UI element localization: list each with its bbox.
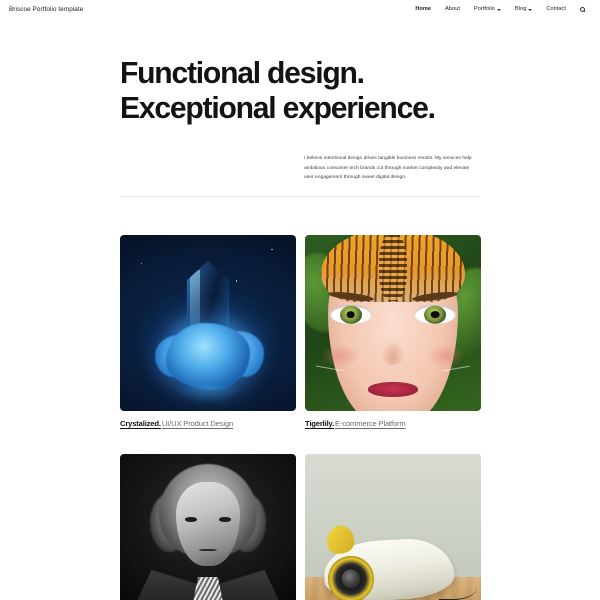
nav-item-label: Portfolio [474,6,495,12]
nav-item-label: Home [415,6,431,12]
search-icon [580,7,585,12]
headline-line-1: Functional design. [120,55,364,90]
project-subtitle: E-commerce Platform [335,419,406,428]
nav-item-contact[interactable]: Contact [539,6,573,12]
project-thumbnail-crystal[interactable] [120,235,296,411]
projects-grid-row-2 [120,454,480,600]
page-title: Functional design. Exceptional experienc… [120,56,469,125]
project-caption[interactable]: Tigerlily.E-commerce Platform [305,419,481,428]
project-card-banana-speaker[interactable] [305,454,481,600]
search-button[interactable] [573,7,590,12]
eye-left [185,517,197,522]
suit-left [124,570,198,600]
nav-item-home[interactable]: Home [408,6,438,12]
project-card-crystalized[interactable]: Crystalized.UI/UX Product Design [120,235,296,428]
intro-row: I believe intentional design drives tang… [120,154,480,181]
nav-item-label: About [445,6,460,12]
suit-right [219,570,293,600]
headline-line-2: Exceptional experience. [120,91,469,126]
project-subtitle: UI/UX Product Design [162,419,233,428]
eye-right [219,517,231,522]
main-content: Functional design. Exceptional experienc… [120,18,480,600]
lips [368,382,417,396]
section-divider [120,196,480,197]
project-card-portrait[interactable] [120,454,296,600]
project-title: Crystalized. [120,419,161,428]
nose [381,340,406,365]
projects-grid-row-1: Crystalized.UI/UX Product Design [120,235,480,428]
chevron-down-icon [528,9,532,11]
brand-logo[interactable]: Briscoe Portfolio template [9,6,83,13]
nav-item-portfolio[interactable]: Portfolio [467,6,508,12]
project-thumbnail-banana-speaker[interactable] [305,454,481,600]
project-card-tigerlily[interactable]: Tigerlily.E-commerce Platform [305,235,481,428]
crystal-rock-base [166,323,250,390]
cheek-left [321,344,360,369]
nav-item-about[interactable]: About [438,6,467,12]
main-nav: Home About Portfolio Blog Contact [408,6,590,12]
chevron-down-icon [497,9,501,11]
crystal-reflection [173,386,243,404]
cheek-right [426,344,465,369]
project-thumbnail-tiger[interactable] [305,235,481,411]
project-title: Tigerlily. [305,419,334,428]
project-thumbnail-portrait[interactable] [120,454,296,600]
site-header: Briscoe Portfolio template Home About Po… [0,0,600,18]
nav-item-blog[interactable]: Blog [508,6,539,12]
nav-item-label: Blog [515,6,526,12]
intro-paragraph: I believe intentional design drives tang… [304,154,480,181]
project-caption[interactable]: Crystalized.UI/UX Product Design [120,419,296,428]
nav-item-label: Contact [546,6,566,12]
